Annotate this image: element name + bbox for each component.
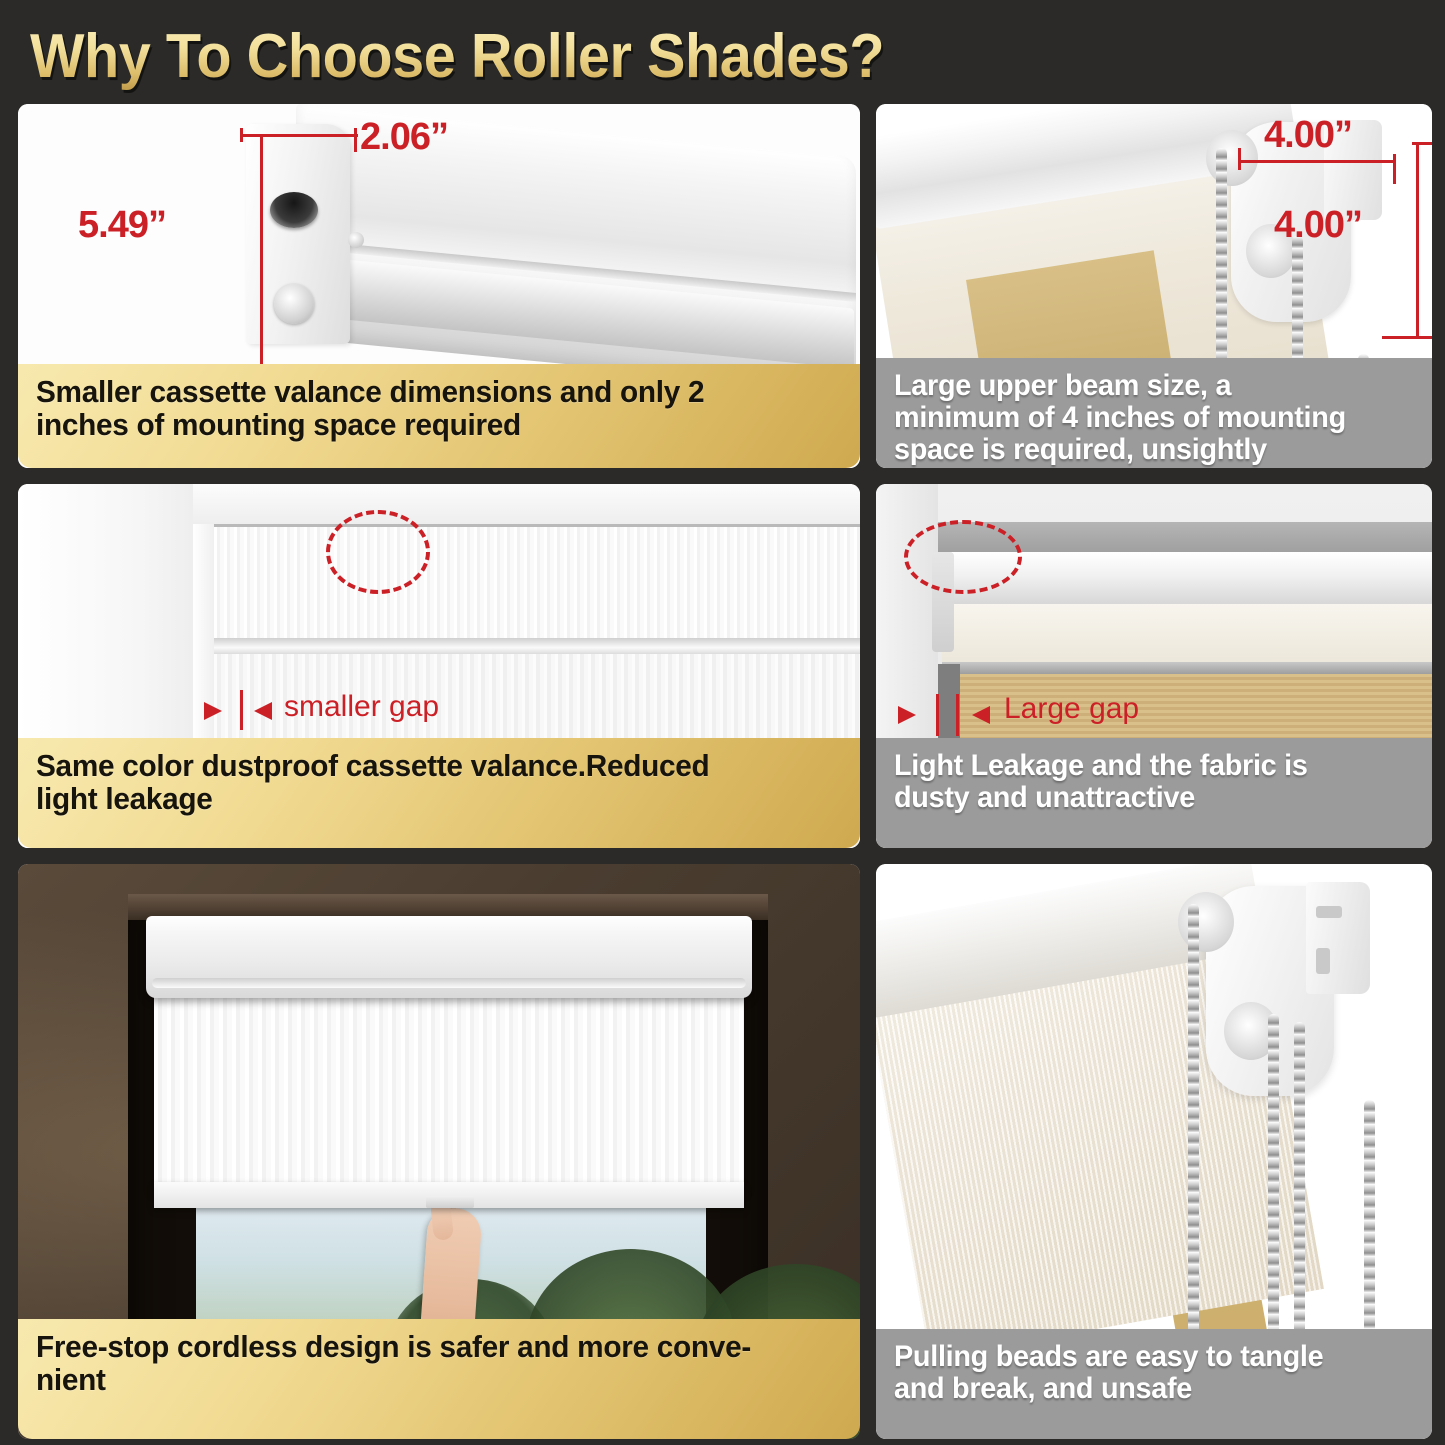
caption-line-2: inches of mounting space required [36,409,810,442]
shade-upper-section [214,524,860,645]
panel-pulling-beads: Pulling beads are easy to tangle and bre… [876,864,1432,1439]
gap-arrow-right-icon [972,706,990,724]
page-title-container: Why To Choose Roller Shades? [30,18,1230,96]
gap-measure-bar-2 [956,694,959,736]
caption-line-1: Pulling beads are easy to tangle [894,1341,1393,1373]
caption-cassette-dimensions: Smaller cassette valance dimensions and … [18,364,860,468]
caption-line-1: Light Leakage and the fabric is [894,750,1393,782]
bead-chain-2 [1268,1014,1279,1334]
valance-bearing-hole [270,192,318,228]
caption-line-2: minimum of 4 inches of mounting [894,402,1393,434]
comparison-grid: 2.06” 5.49” Smaller cassette valance dim… [0,104,1445,1445]
shade-middle-rail [214,638,860,654]
gap-label: Large gap [1004,692,1139,726]
beam-width-tick-right [1393,154,1396,184]
dim-height-label: 5.49” [78,204,166,247]
bead-chain-1 [1188,904,1199,1334]
roller-shade-fabric [154,990,744,1190]
page-title: Why To Choose Roller Shades? [30,18,1146,96]
caption-line-2: dusty and unattractive [894,782,1393,814]
caption-line-2: light leakage [36,783,810,816]
caption-line-2: and break, and unsafe [894,1373,1393,1405]
panel-cordless-design: Free-stop cordless design is safer and m… [18,864,860,1439]
gap-measure-bar [240,690,243,730]
panel-smaller-gap: smaller gap Same color dustproof cassett… [18,484,860,848]
caption-smaller-gap: Same color dustproof cassette valance.Re… [18,738,860,848]
caption-line-1: Free-stop cordless design is safer and m… [36,1331,810,1364]
cassette-valance [146,916,752,998]
dim-width-label: 2.06” [360,116,448,159]
window-frame-head [193,484,860,524]
bead-chain-3 [1294,1022,1305,1334]
caption-line-1: Smaller cassette valance dimensions and … [36,376,810,409]
panel-large-gap: Large gap Light Leakage and the fabric i… [876,484,1432,848]
highlight-ellipse-icon [904,520,1022,594]
beam-width-line [1238,160,1396,163]
dim-width-tick-left [240,128,243,142]
caption-line-2: nient [36,1364,810,1397]
caption-line-1: Large upper beam size, a [894,370,1393,402]
dim-width-tick-right [354,128,357,152]
bead-chain-4 [1364,1100,1375,1334]
dim-height-tick-top [246,134,282,137]
beam-height-label: 4.00” [1274,204,1362,247]
bracket-mounting-plate [1306,882,1370,994]
beam-height-tick-bottom [1382,336,1432,339]
gap-arrow-left-icon [898,706,916,724]
caption-large-gap: Light Leakage and the fabric is dusty an… [876,738,1432,848]
caption-line-3: space is required, unsightly [894,434,1393,466]
caption-pulling-beads: Pulling beads are easy to tangle and bre… [876,1329,1432,1439]
beam-width-tick-left [1238,148,1241,170]
shade-pull-tab [426,1196,474,1208]
valance-screw-large [274,284,314,324]
gap-measure-bar-1 [936,694,939,736]
panel-cassette-dimensions: 2.06” 5.49” Smaller cassette valance dim… [18,104,860,468]
gap-arrow-left-icon [204,702,222,720]
caption-large-upper-beam: Large upper beam size, a minimum of 4 in… [876,358,1432,468]
caption-cordless-design: Free-stop cordless design is safer and m… [18,1319,860,1439]
beam-height-tick-top [1412,142,1432,145]
bead-pulley-upper [1206,130,1258,186]
highlight-ellipse-icon [326,510,430,594]
gap-arrow-right-icon [254,702,272,720]
gap-label: smaller gap [284,690,439,724]
valance-screw-small [348,232,364,248]
bead-pulley-upper [1178,892,1234,952]
beam-height-line [1416,142,1419,338]
caption-line-1: Same color dustproof cassette valance.Re… [36,750,810,783]
shade-divider-bar [942,662,1432,674]
shade-white-band [942,604,1432,664]
beam-width-label: 4.00” [1264,114,1352,157]
panel-large-upper-beam: 4.00” 4.00” Large upper beam size, a min… [876,104,1432,468]
